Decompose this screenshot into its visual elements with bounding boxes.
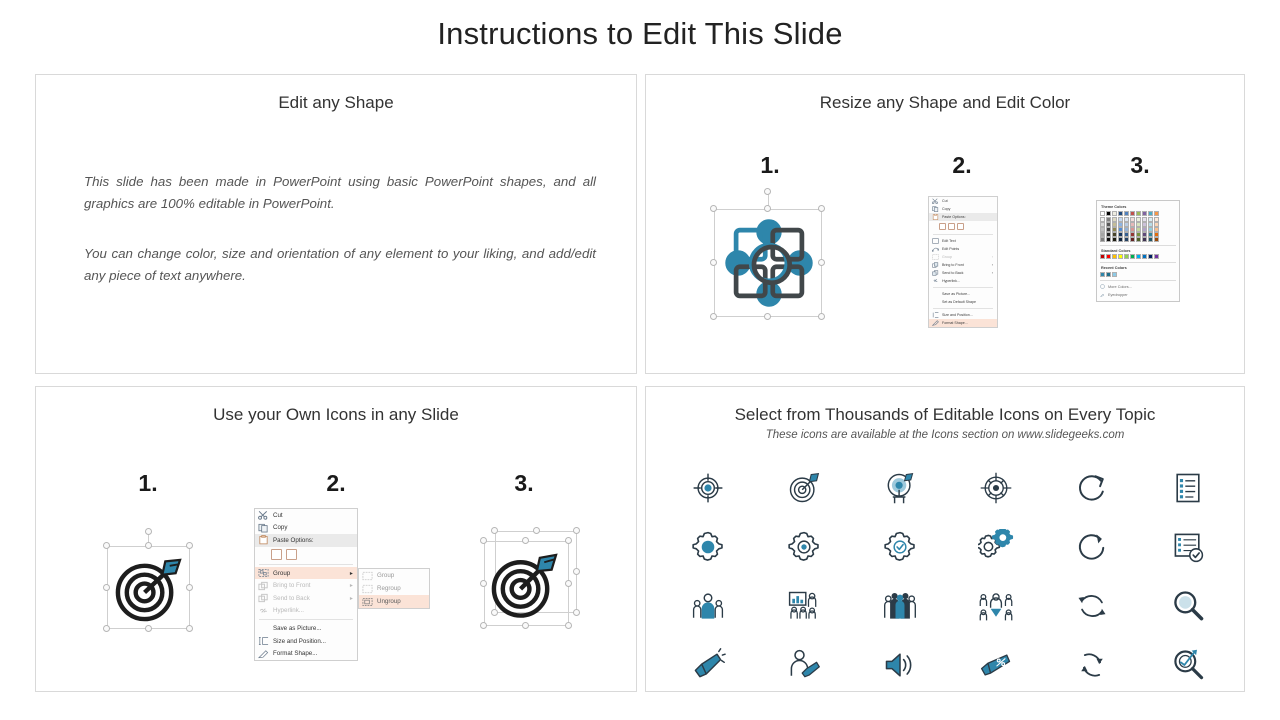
resize-handle-sw[interactable] bbox=[103, 625, 110, 632]
menu-item-hyperlink[interactable]: Hyperlink... bbox=[929, 277, 997, 285]
color-swatch[interactable] bbox=[1154, 254, 1159, 259]
submenu-item-regroup-label: Regroup bbox=[377, 585, 425, 592]
gears-pair-icon bbox=[978, 529, 1014, 565]
color-swatch[interactable] bbox=[1142, 211, 1147, 216]
color-tint-column[interactable] bbox=[1124, 217, 1129, 242]
send-back-icon bbox=[258, 593, 269, 603]
edit-points-icon bbox=[932, 246, 939, 252]
step-number-tr-2: 2. bbox=[932, 152, 992, 179]
icon-gear-filled[interactable] bbox=[660, 517, 756, 576]
paste-icon bbox=[258, 535, 269, 545]
submenu-item-group[interactable]: Group bbox=[359, 569, 429, 582]
checklist-document-icon bbox=[1170, 470, 1206, 506]
icon-team-leader[interactable] bbox=[660, 576, 756, 635]
menu-item-bring-to-front-label: Bring to Front bbox=[273, 582, 344, 589]
menu-item-cut[interactable]: Cut bbox=[929, 197, 997, 205]
submenu-item-group-label: Group bbox=[377, 572, 425, 579]
menu-item-group[interactable]: Group › bbox=[929, 253, 997, 261]
color-swatch[interactable] bbox=[1148, 237, 1153, 242]
rotation-handle[interactable] bbox=[145, 528, 152, 535]
editable-shape-graphic[interactable] bbox=[722, 216, 816, 310]
menu-item-bring-to-front[interactable]: Bring to Front › bbox=[929, 261, 997, 269]
menu-item-hyperlink[interactable]: Hyperlink... bbox=[255, 605, 357, 618]
resize-handle-w[interactable] bbox=[103, 584, 110, 591]
color-swatch[interactable] bbox=[1118, 254, 1123, 259]
resize-handle-sw[interactable] bbox=[710, 313, 717, 320]
resize-handle-se[interactable] bbox=[186, 625, 193, 632]
icon-gears-pair[interactable] bbox=[948, 517, 1044, 576]
hyperlink-icon bbox=[932, 278, 939, 284]
bring-front-icon bbox=[932, 262, 939, 268]
menu-item-copy[interactable]: Copy bbox=[255, 522, 357, 535]
gear-filled-icon bbox=[690, 529, 726, 565]
resize-handle-b-nw[interactable] bbox=[491, 527, 498, 534]
icon-refresh-circle[interactable] bbox=[1044, 517, 1140, 576]
color-swatch[interactable] bbox=[1124, 254, 1129, 259]
step-number-bl-2: 2. bbox=[306, 470, 366, 497]
menu-divider bbox=[933, 234, 993, 235]
paste-option-icons[interactable] bbox=[255, 547, 357, 562]
menu-item-send-to-back-label: Send to Back bbox=[942, 271, 986, 275]
submenu-item-regroup[interactable]: Regroup bbox=[359, 582, 429, 595]
target-dartboard-icon-grouped[interactable] bbox=[112, 551, 186, 625]
menu-item-size-and-position[interactable]: Size and Position... bbox=[255, 635, 357, 648]
color-tint-column[interactable] bbox=[1130, 217, 1135, 242]
paste-keep-formatting-icon[interactable] bbox=[939, 223, 946, 230]
chevron-right-icon: › bbox=[992, 271, 993, 275]
icon-person-megaphone[interactable] bbox=[756, 635, 852, 694]
icon-speaker-volume[interactable] bbox=[852, 635, 948, 694]
menu-item-format-shape[interactable]: Format Shape... bbox=[929, 319, 997, 327]
menu-item-cut-label: Cut bbox=[942, 199, 993, 203]
megaphone-percent-icon bbox=[978, 647, 1014, 683]
icon-dartboard-arrow[interactable] bbox=[756, 458, 852, 517]
submenu-item-ungroup[interactable]: Ungroup bbox=[359, 595, 429, 608]
color-tint-column[interactable] bbox=[1106, 217, 1111, 242]
color-swatch[interactable] bbox=[1148, 211, 1153, 216]
color-swatch[interactable] bbox=[1106, 272, 1111, 277]
icon-redo-arrow[interactable] bbox=[1044, 458, 1140, 517]
menu-divider bbox=[259, 619, 353, 620]
divider bbox=[1100, 262, 1176, 263]
icon-magnifier[interactable] bbox=[1140, 576, 1236, 635]
color-swatch[interactable] bbox=[1148, 254, 1153, 259]
menu-item-cut[interactable]: Cut bbox=[255, 509, 357, 522]
menu-divider bbox=[933, 287, 993, 288]
meeting-people-icon bbox=[978, 588, 1014, 624]
icon-meeting-people[interactable] bbox=[948, 576, 1044, 635]
group-icon bbox=[362, 571, 373, 581]
resize-handle-se[interactable] bbox=[565, 622, 572, 629]
resize-handle-n[interactable] bbox=[145, 542, 152, 549]
team-group-icon bbox=[882, 588, 918, 624]
scissors-icon bbox=[258, 510, 269, 520]
menu-item-paste-options[interactable]: Paste Options: bbox=[929, 213, 997, 221]
rotation-handle[interactable] bbox=[764, 188, 771, 195]
palette-icon bbox=[1100, 284, 1105, 290]
paragraph-customization: You can change color, size and orientati… bbox=[84, 243, 596, 287]
icon-target-crosshair[interactable] bbox=[660, 458, 756, 517]
step-number-tr-3: 3. bbox=[1110, 152, 1170, 179]
icon-sync-arrows[interactable] bbox=[1044, 576, 1140, 635]
resize-handle-ne[interactable] bbox=[818, 205, 825, 212]
chevron-right-icon: › bbox=[992, 255, 993, 259]
bring-front-icon bbox=[258, 581, 269, 591]
dartboard-arrow-icon bbox=[786, 470, 822, 506]
more-colors-button[interactable]: More Colors... bbox=[1100, 284, 1176, 290]
menu-item-group-label: Group bbox=[942, 255, 986, 259]
context-menu-icon-group[interactable]: Cut Copy Paste Options: Group ▸ bbox=[254, 508, 358, 661]
checklist-approved-icon bbox=[1170, 529, 1206, 565]
save-picture-icon bbox=[258, 623, 269, 633]
save-picture-icon bbox=[932, 291, 939, 297]
step-number-bl-1: 1. bbox=[118, 470, 178, 497]
resize-handle-s[interactable] bbox=[522, 622, 529, 629]
color-swatch[interactable] bbox=[1130, 254, 1135, 259]
regroup-icon bbox=[362, 584, 373, 594]
resize-handle-b-e[interactable] bbox=[573, 568, 580, 575]
paste-icon bbox=[932, 214, 939, 220]
color-swatch[interactable] bbox=[1106, 254, 1111, 259]
edit-text-icon bbox=[932, 238, 939, 244]
menu-item-copy-label: Copy bbox=[942, 207, 993, 211]
icon-target-stand[interactable] bbox=[852, 458, 948, 517]
icon-presentation-team[interactable] bbox=[756, 576, 852, 635]
menu-item-send-to-back[interactable]: Send to Back ▸ bbox=[255, 592, 357, 605]
color-swatch[interactable] bbox=[1124, 237, 1129, 242]
target-crosshair-icon bbox=[690, 470, 726, 506]
scissors-icon bbox=[932, 198, 939, 204]
color-swatch[interactable] bbox=[1154, 237, 1159, 242]
chevron-right-icon: ▸ bbox=[350, 595, 353, 602]
menu-item-paste-options-label: Paste Options: bbox=[942, 215, 993, 219]
menu-item-format-shape-label: Format Shape... bbox=[273, 650, 353, 657]
icon-library-grid bbox=[660, 458, 1236, 694]
color-swatch[interactable] bbox=[1124, 211, 1129, 216]
icon-magnifier-target[interactable] bbox=[1140, 635, 1236, 694]
panel-title-own-icons: Use your Own Icons in any Slide bbox=[36, 405, 636, 425]
paste-option-icons[interactable] bbox=[929, 221, 997, 232]
chevron-right-icon: ▸ bbox=[350, 582, 353, 589]
menu-item-copy[interactable]: Copy bbox=[929, 205, 997, 213]
theme-colors-label: Theme Colors bbox=[1101, 205, 1176, 209]
menu-item-edit-points-label: Edit Points bbox=[942, 247, 993, 251]
recent-colors-label: Recent Colors bbox=[1101, 266, 1176, 270]
eyedropper-icon bbox=[1100, 292, 1105, 298]
format-shape-icon bbox=[932, 320, 939, 326]
slide-canvas: Instructions to Edit This Slide Edit any… bbox=[0, 0, 1280, 720]
context-submenu-group[interactable]: Group Regroup Ungroup bbox=[358, 568, 430, 609]
resize-handle-e[interactable] bbox=[818, 259, 825, 266]
menu-item-set-default-shape-label: Set as Default Shape bbox=[942, 300, 993, 304]
resize-handle-se[interactable] bbox=[818, 313, 825, 320]
eyedropper-button[interactable]: Eyedropper bbox=[1100, 292, 1176, 298]
menu-item-copy-label: Copy bbox=[273, 524, 353, 531]
menu-item-group[interactable]: Group ▸ bbox=[255, 567, 357, 580]
color-swatch[interactable] bbox=[1118, 237, 1123, 242]
menu-item-save-as-picture-label: Save as Picture... bbox=[942, 292, 993, 296]
color-tint-column[interactable] bbox=[1154, 217, 1159, 242]
color-tint-column[interactable] bbox=[1118, 217, 1123, 242]
color-swatch[interactable] bbox=[1142, 254, 1147, 259]
context-menu-shape[interactable]: Cut Copy Paste Options: Edit Text bbox=[928, 196, 998, 328]
paragraph-slide-description: This slide has been made in PowerPoint u… bbox=[84, 171, 596, 215]
resize-handle-e[interactable] bbox=[186, 584, 193, 591]
color-swatch[interactable] bbox=[1100, 272, 1105, 277]
icon-checklist-document[interactable] bbox=[1140, 458, 1236, 517]
menu-item-size-and-position-label: Size and Position... bbox=[273, 638, 353, 645]
resize-handle-w[interactable] bbox=[480, 580, 487, 587]
panel-edit-any-shape: Edit any Shape This slide has been made … bbox=[35, 74, 637, 374]
panel-subtitle-icon-library: These icons are available at the Icons s… bbox=[646, 429, 1244, 441]
page-title: Instructions to Edit This Slide bbox=[0, 16, 1280, 52]
color-swatch[interactable] bbox=[1136, 237, 1141, 242]
icon-crosshair-scope[interactable] bbox=[948, 458, 1044, 517]
resize-handle-ne[interactable] bbox=[186, 542, 193, 549]
divider bbox=[1100, 245, 1176, 246]
color-swatch[interactable] bbox=[1112, 272, 1117, 277]
menu-item-set-default-shape[interactable]: Set as Default Shape bbox=[929, 298, 997, 306]
resize-handle-nw[interactable] bbox=[710, 205, 717, 212]
speaker-volume-icon bbox=[882, 647, 918, 683]
color-tint-column[interactable] bbox=[1148, 217, 1153, 242]
icon-gear-outline[interactable] bbox=[756, 517, 852, 576]
paste-picture-icon[interactable] bbox=[948, 223, 955, 230]
gear-check-icon bbox=[882, 529, 918, 565]
resize-handle-e[interactable] bbox=[565, 580, 572, 587]
menu-item-format-shape-label: Format Shape... bbox=[942, 321, 993, 325]
refresh-circle-icon bbox=[1074, 529, 1110, 565]
icon-team-group[interactable] bbox=[852, 576, 948, 635]
color-swatch[interactable] bbox=[1136, 254, 1141, 259]
resize-handle-nw[interactable] bbox=[480, 537, 487, 544]
icon-circular-arrows[interactable] bbox=[1044, 635, 1140, 694]
copy-icon bbox=[932, 206, 939, 212]
menu-item-save-as-picture[interactable]: Save as Picture... bbox=[255, 622, 357, 635]
color-swatch[interactable] bbox=[1142, 237, 1147, 242]
default-shape-icon bbox=[932, 299, 939, 305]
eyedropper-label: Eyedropper bbox=[1108, 293, 1128, 297]
menu-item-format-shape[interactable]: Format Shape... bbox=[255, 647, 357, 660]
redo-arrow-icon bbox=[1074, 470, 1110, 506]
paste-keep-text-icon[interactable] bbox=[957, 223, 964, 230]
resize-handle-w[interactable] bbox=[710, 259, 717, 266]
resize-handle-b-n[interactable] bbox=[533, 527, 540, 534]
magnifier-icon bbox=[1170, 588, 1206, 624]
menu-divider bbox=[259, 564, 353, 565]
color-swatch[interactable] bbox=[1112, 237, 1117, 242]
color-tint-column[interactable] bbox=[1112, 217, 1117, 242]
group-icon bbox=[932, 254, 939, 260]
color-swatch[interactable] bbox=[1136, 211, 1141, 216]
menu-item-paste-options[interactable]: Paste Options: bbox=[255, 534, 357, 547]
menu-item-group-label: Group bbox=[273, 570, 344, 577]
menu-divider bbox=[933, 308, 993, 309]
color-swatch[interactable] bbox=[1130, 237, 1135, 242]
icon-gear-check[interactable] bbox=[852, 517, 948, 576]
magnifier-target-icon bbox=[1170, 647, 1206, 683]
color-swatch[interactable] bbox=[1118, 211, 1123, 216]
standard-colors-label: Standard Colors bbox=[1101, 249, 1176, 253]
circular-arrows-icon bbox=[1074, 647, 1110, 683]
target-stand-icon bbox=[882, 470, 918, 506]
menu-item-bring-to-front[interactable]: Bring to Front ▸ bbox=[255, 579, 357, 592]
paste-keep-source-formatting-icon[interactable] bbox=[271, 549, 282, 560]
crosshair-scope-icon bbox=[978, 470, 1014, 506]
resize-handle-n[interactable] bbox=[522, 537, 529, 544]
ungroup-icon bbox=[362, 597, 373, 607]
panel-title-resize-shape: Resize any Shape and Edit Color bbox=[646, 93, 1244, 113]
hyperlink-icon bbox=[258, 606, 269, 616]
menu-item-edit-text[interactable]: Edit Text bbox=[929, 237, 997, 245]
standard-colors-row[interactable] bbox=[1100, 254, 1176, 259]
team-leader-icon bbox=[690, 588, 726, 624]
resize-handle-sw[interactable] bbox=[480, 622, 487, 629]
megaphone-icon bbox=[690, 647, 726, 683]
resize-handle-b-se[interactable] bbox=[573, 609, 580, 616]
color-swatch[interactable] bbox=[1130, 211, 1135, 216]
color-tint-column[interactable] bbox=[1136, 217, 1141, 242]
divider bbox=[1100, 280, 1176, 281]
menu-item-edit-text-label: Edit Text bbox=[942, 239, 993, 243]
menu-item-hyperlink-label: Hyperlink... bbox=[273, 607, 353, 614]
icon-megaphone[interactable] bbox=[660, 635, 756, 694]
step-number-bl-3: 3. bbox=[494, 470, 554, 497]
more-colors-label: More Colors... bbox=[1108, 285, 1132, 289]
menu-item-size-and-position[interactable]: Size and Position... bbox=[929, 311, 997, 319]
color-tint-column[interactable] bbox=[1100, 217, 1105, 242]
format-shape-icon bbox=[258, 649, 269, 659]
resize-handle-b-ne[interactable] bbox=[573, 527, 580, 534]
menu-item-edit-points[interactable]: Edit Points bbox=[929, 245, 997, 253]
theme-colors-row[interactable] bbox=[1100, 211, 1176, 216]
color-swatch[interactable] bbox=[1100, 254, 1105, 259]
resize-handle-s[interactable] bbox=[764, 313, 771, 320]
resize-handle-n[interactable] bbox=[764, 205, 771, 212]
size-position-icon bbox=[258, 636, 269, 646]
chevron-right-icon: ▸ bbox=[350, 570, 353, 577]
color-swatch[interactable] bbox=[1112, 211, 1117, 216]
color-picker-panel[interactable]: Theme Colors Standard Colors Recent Colo… bbox=[1096, 200, 1180, 302]
color-swatch[interactable] bbox=[1106, 211, 1111, 216]
target-dartboard-icon-ungrouped[interactable] bbox=[488, 546, 562, 620]
resize-handle-ne[interactable] bbox=[565, 537, 572, 544]
menu-item-send-to-back[interactable]: Send to Back › bbox=[929, 269, 997, 277]
group-icon bbox=[258, 568, 269, 578]
color-swatch[interactable] bbox=[1106, 237, 1111, 242]
color-swatch[interactable] bbox=[1100, 237, 1105, 242]
color-swatch[interactable] bbox=[1100, 211, 1105, 216]
gear-outline-icon bbox=[786, 529, 822, 565]
copy-icon bbox=[258, 523, 269, 533]
icon-megaphone-percent[interactable] bbox=[948, 635, 1044, 694]
presentation-team-icon bbox=[786, 588, 822, 624]
panel-title-edit-shape: Edit any Shape bbox=[36, 93, 636, 113]
menu-item-send-to-back-label: Send to Back bbox=[273, 595, 344, 602]
menu-item-cut-label: Cut bbox=[273, 512, 353, 519]
recent-colors-row[interactable] bbox=[1100, 272, 1176, 277]
theme-color-tints[interactable] bbox=[1100, 217, 1176, 242]
person-megaphone-icon bbox=[786, 647, 822, 683]
sync-arrows-icon bbox=[1074, 588, 1110, 624]
menu-item-save-as-picture[interactable]: Save as Picture... bbox=[929, 290, 997, 298]
color-swatch[interactable] bbox=[1154, 211, 1159, 216]
chevron-right-icon: › bbox=[992, 263, 993, 267]
menu-item-paste-options-label: Paste Options: bbox=[273, 537, 353, 544]
step-number-tr-1: 1. bbox=[740, 152, 800, 179]
submenu-item-ungroup-label: Ungroup bbox=[377, 598, 425, 605]
menu-item-bring-to-front-label: Bring to Front bbox=[942, 263, 986, 267]
color-tint-column[interactable] bbox=[1142, 217, 1147, 242]
paste-picture-icon[interactable] bbox=[286, 549, 297, 560]
menu-item-size-and-position-label: Size and Position... bbox=[942, 313, 993, 317]
send-back-icon bbox=[932, 270, 939, 276]
panel-title-icon-library: Select from Thousands of Editable Icons … bbox=[646, 405, 1244, 425]
resize-handle-nw[interactable] bbox=[103, 542, 110, 549]
color-swatch[interactable] bbox=[1112, 254, 1117, 259]
menu-item-hyperlink-label: Hyperlink... bbox=[942, 279, 993, 283]
resize-handle-s[interactable] bbox=[145, 625, 152, 632]
menu-item-save-as-picture-label: Save as Picture... bbox=[273, 625, 353, 632]
icon-checklist-approved[interactable] bbox=[1140, 517, 1236, 576]
size-position-icon bbox=[932, 312, 939, 318]
